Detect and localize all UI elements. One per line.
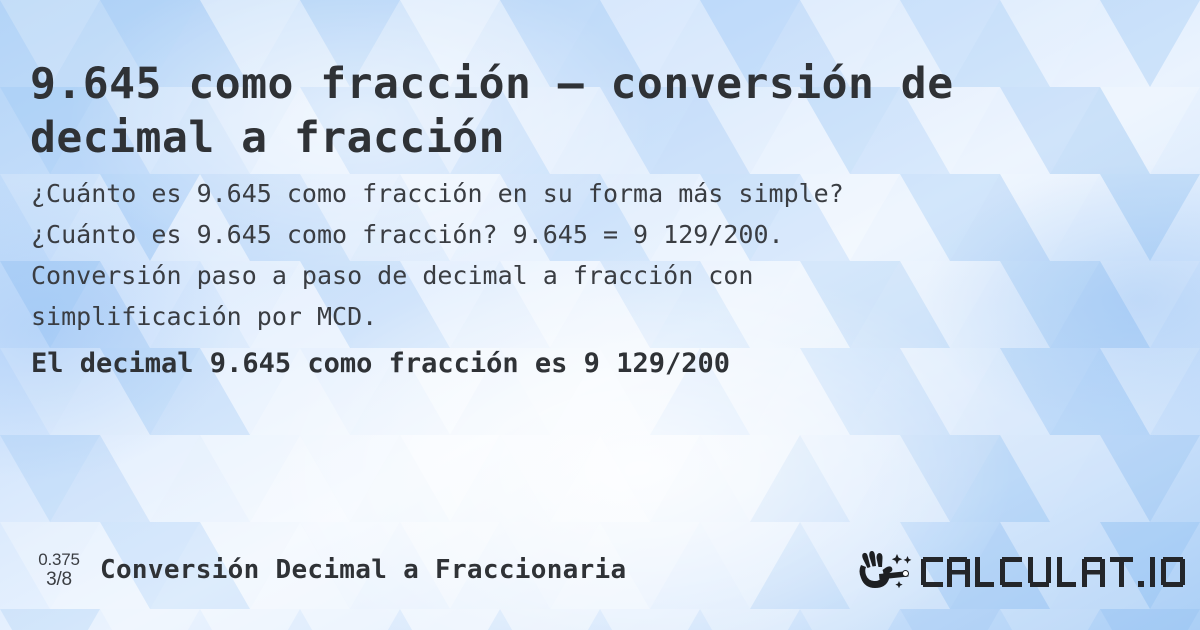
- magic-wand-hand-icon: [856, 551, 914, 593]
- poster-canvas: 9.645 como fracción – conversión de deci…: [0, 0, 1200, 630]
- description-paragraph: ¿Cuánto es 9.645 como fracción en su for…: [31, 173, 1151, 337]
- calculatio-lcd-text: [920, 552, 1188, 592]
- page-title: 9.645 como fracción – conversión de deci…: [30, 57, 1140, 165]
- footer-title: Conversión Decimal a Fraccionaria: [100, 553, 626, 587]
- footer: 0.375 3/8 Conversión Decimal a Fracciona…: [0, 540, 1200, 610]
- icon-decimal-value: 0.375: [26, 550, 92, 569]
- decimal-fraction-icon: 0.375 3/8: [26, 550, 92, 602]
- brand-wordmark: CALCULAT.IO: [920, 551, 1188, 593]
- brand-logo[interactable]: CALCULAT.IO: [856, 548, 1188, 596]
- icon-fraction-value: 3/8: [26, 569, 92, 590]
- answer-statement: El decimal 9.645 como fracción es 9 129/…: [31, 346, 730, 382]
